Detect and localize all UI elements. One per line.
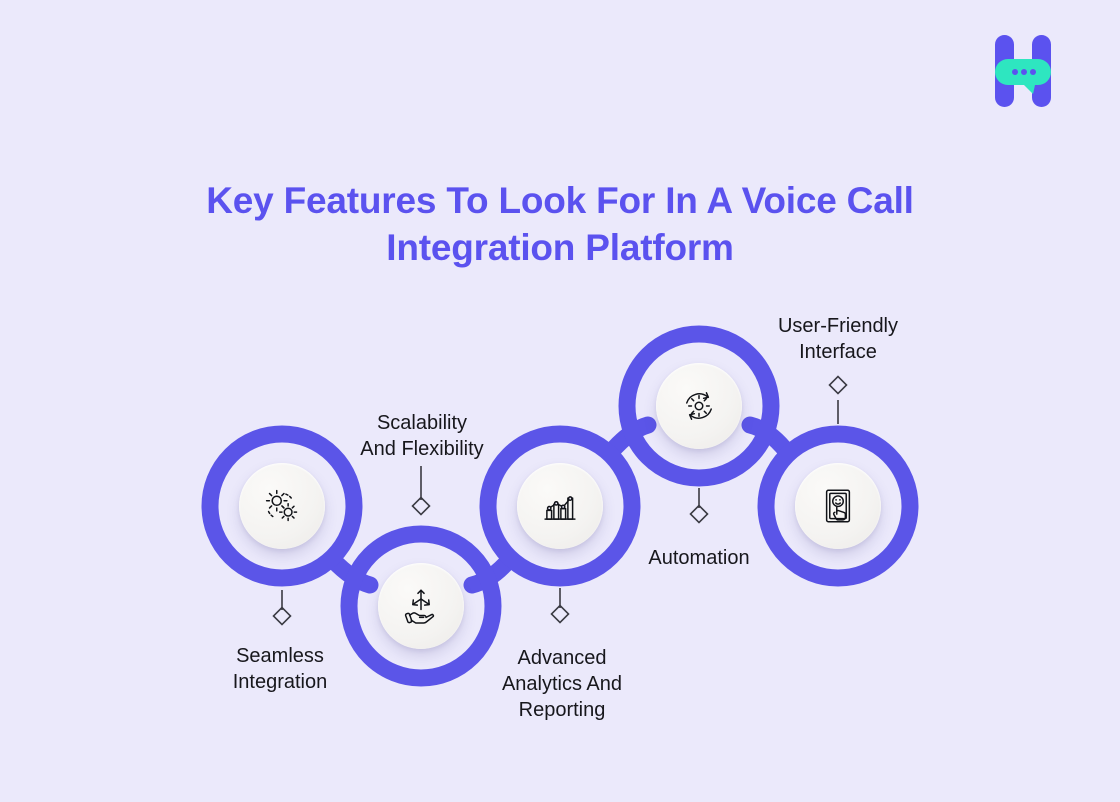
leader-diamond-advanced-analytics-and-reporting [552,606,569,623]
label-line: Integration [160,669,400,695]
node-label-seamless-integration: Seamless Integration [160,643,400,695]
leader-diamond-automation [691,506,708,523]
label-line: Scalability [302,410,542,436]
node-icon-disc-automation[interactable] [656,363,742,449]
node-icon-disc-scalability-and-flexibility[interactable] [378,563,464,649]
label-line: User-Friendly [718,313,958,339]
label-line: Seamless [160,643,400,669]
label-line: Reporting [442,697,682,723]
screen-touch-smiley-icon [817,485,859,527]
label-line: Advanced [442,645,682,671]
gears-icon [261,485,303,527]
node-icon-disc-user-friendly-interface[interactable] [795,463,881,549]
leader-diamond-user-friendly-interface [830,377,847,394]
label-line: Analytics And [442,671,682,697]
bar-chart-trend-icon [539,485,581,527]
node-label-automation: Automation [579,545,819,571]
node-label-scalability-and-flexibility: Scalability And Flexibility [302,410,542,462]
label-line: And Flexibility [302,436,542,462]
infographic-canvas: Key Features To Look For In A Voice Call… [0,0,1120,802]
label-line: Interface [718,339,958,365]
hand-arrows-icon [400,585,442,627]
gear-refresh-icon [678,385,720,427]
leader-diamond-scalability-and-flexibility [413,498,430,515]
node-label-user-friendly-interface: User-Friendly Interface [718,313,958,365]
leader-diamond-seamless-integration [274,608,291,625]
node-icon-disc-seamless-integration[interactable] [239,463,325,549]
node-label-advanced-analytics-and-reporting: Advanced Analytics And Reporting [442,645,682,723]
label-line: Automation [579,545,819,571]
node-icon-disc-advanced-analytics-and-reporting[interactable] [517,463,603,549]
